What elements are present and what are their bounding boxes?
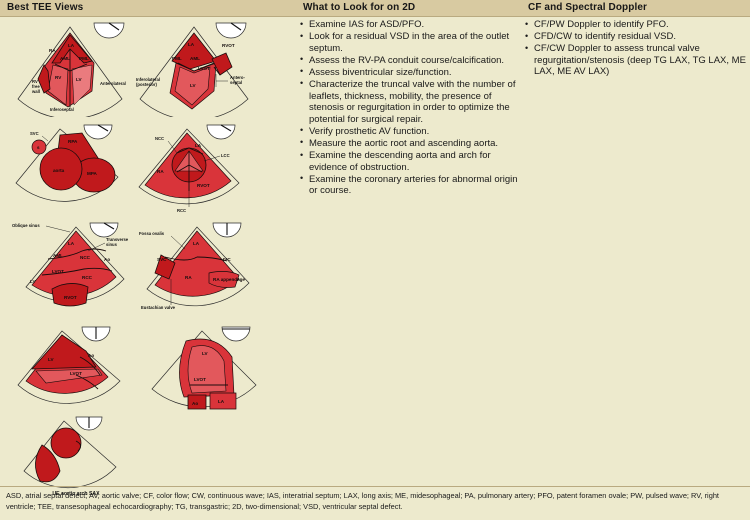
svg-text:LV: LV xyxy=(190,83,196,88)
svg-text:Fossa ovalis: Fossa ovalis xyxy=(139,231,165,236)
diagram-me-long-axis: LA PML AML LVOT LV RVOT Inferolateral (p… xyxy=(128,19,260,117)
list-item: Look for a residual VSD in the area of t… xyxy=(300,31,522,54)
svg-text:aorta: aorta xyxy=(53,168,65,173)
list-item: Assess biventricular size/function. xyxy=(300,67,522,79)
svg-text:LA: LA xyxy=(68,43,75,48)
svg-text:LA: LA xyxy=(193,241,200,246)
diagram-me-bicaval: LA SVC IVC RA RA appendage Fossa ovalis … xyxy=(135,217,265,317)
diagram-me-four-chamber: RA LA AML PML RV LV RV free wall Inferos… xyxy=(8,19,138,117)
svg-text:LA: LA xyxy=(195,143,202,148)
what-to-look-for-2d-column: Examine IAS for ASD/PFO. Look for a resi… xyxy=(300,19,522,197)
svg-text:Ao: Ao xyxy=(104,257,110,262)
svg-text:PML: PML xyxy=(172,56,182,61)
table-header-row: Best TEE Views What to Look for on 2D CF… xyxy=(0,0,750,17)
svg-text:LA: LA xyxy=(188,42,195,47)
svg-text:Anterolateral: Anterolateral xyxy=(100,81,126,86)
svg-text:RA appendage: RA appendage xyxy=(213,277,245,282)
svg-text:RCC: RCC xyxy=(177,208,186,213)
list-item: Examine IAS for ASD/PFO. xyxy=(300,19,522,31)
svg-text:Oblique sinus: Oblique sinus xyxy=(12,223,40,228)
doppler-bullet-list: CF/PW Doppler to identify PFO. CFD/CW to… xyxy=(525,19,747,78)
svg-text:LV: LV xyxy=(30,279,36,284)
svg-text:RPA: RPA xyxy=(68,139,78,144)
svg-text:LVOT: LVOT xyxy=(70,371,82,376)
svg-text:LV: LV xyxy=(76,77,82,82)
svg-text:sinus: sinus xyxy=(106,242,118,247)
svg-text:LV: LV xyxy=(202,351,208,356)
list-item: Examine the descending aorta and arch fo… xyxy=(300,150,522,173)
svg-text:LA: LA xyxy=(218,399,225,404)
svg-text:LVOT: LVOT xyxy=(198,66,210,71)
svg-text:AML: AML xyxy=(190,56,200,61)
list-item: CF/CW Doppler to assess truncal valve re… xyxy=(525,43,747,78)
list-item: Assess the RV-PA conduit course/calcific… xyxy=(300,55,522,67)
diagram-me-av-lax: LA AML NCC Ao RCC LVOT LV RVOT Oblique s… xyxy=(8,217,136,313)
list-item: Examine the coronary arteries for abnorm… xyxy=(300,174,522,197)
svg-text:RVOT: RVOT xyxy=(64,295,77,300)
svg-text:RA: RA xyxy=(49,48,56,53)
diagram-ue-aortic-arch-sax-upper: RPA aorta MPA s SVC xyxy=(8,121,132,213)
header-best-tee-views: Best TEE Views xyxy=(7,2,83,13)
svg-text:Eustachian valve: Eustachian valve xyxy=(141,305,176,310)
diagram-grid: RA LA AML PML RV LV RV free wall Inferos… xyxy=(0,17,296,485)
diagram-deep-tg-lax: LV LVOT LA Ao xyxy=(140,323,268,417)
svg-text:LCC: LCC xyxy=(221,153,230,158)
list-item: Verify prosthetic AV function. xyxy=(300,126,522,138)
best-tee-views-column: RA LA AML PML RV LV RV free wall Inferos… xyxy=(0,17,296,485)
svg-text:PML: PML xyxy=(79,56,89,61)
diagram-me-av-sax: LA RA RVOT NCC LCC RCC xyxy=(125,121,259,217)
svg-text:RA: RA xyxy=(157,169,164,174)
svg-text:AML: AML xyxy=(53,253,63,258)
svg-text:IVC: IVC xyxy=(223,257,231,262)
svg-text:SVC: SVC xyxy=(157,257,167,262)
abbreviation-footnote: ASD, atrial septal defect; AV, aortic va… xyxy=(0,486,750,520)
svg-text:LA: LA xyxy=(68,241,75,246)
list-item: Characterize the truncal valve with the … xyxy=(300,79,522,125)
svg-text:MPA: MPA xyxy=(87,171,98,176)
tee-views-reference-table: Best TEE Views What to Look for on 2D CF… xyxy=(0,0,750,520)
svg-text:Ao: Ao xyxy=(88,353,94,358)
header-what-to-look-for-2d: What to Look for on 2D xyxy=(303,2,415,13)
2d-bullet-list: Examine IAS for ASD/PFO. Look for a resi… xyxy=(300,19,522,197)
svg-text:NCC: NCC xyxy=(155,136,164,141)
svg-text:s: s xyxy=(37,145,40,150)
diagram-tg-lax: LV LVOT Ao xyxy=(10,323,134,415)
svg-text:SVC: SVC xyxy=(30,131,39,136)
cf-spectral-doppler-column: CF/PW Doppler to identify PFO. CFD/CW to… xyxy=(525,19,747,78)
svg-text:wall: wall xyxy=(31,89,40,94)
svg-text:AML: AML xyxy=(60,56,70,61)
list-item: CFD/CW to identify residual VSD. xyxy=(525,31,747,43)
header-cf-spectral-doppler: CF and Spectral Doppler xyxy=(528,2,647,13)
svg-text:(posterior): (posterior) xyxy=(136,82,158,87)
svg-text:RVOT: RVOT xyxy=(222,43,235,48)
diagram-ue-aortic-arch-sax: UE aortic arch SAX xyxy=(16,415,136,493)
svg-text:LV: LV xyxy=(48,357,54,362)
svg-text:RVOT: RVOT xyxy=(197,183,210,188)
list-item: Measure the aortic root and ascending ao… xyxy=(300,138,522,150)
svg-text:RV: RV xyxy=(55,75,62,80)
svg-text:NCC: NCC xyxy=(80,255,91,260)
svg-text:RA: RA xyxy=(185,275,192,280)
svg-text:septal: septal xyxy=(230,80,242,85)
svg-text:LVOT: LVOT xyxy=(194,377,206,382)
list-item: CF/PW Doppler to identify PFO. xyxy=(525,19,747,31)
svg-text:LVOT: LVOT xyxy=(52,269,64,274)
svg-text:Ao: Ao xyxy=(192,401,198,406)
svg-text:RCC: RCC xyxy=(82,275,93,280)
